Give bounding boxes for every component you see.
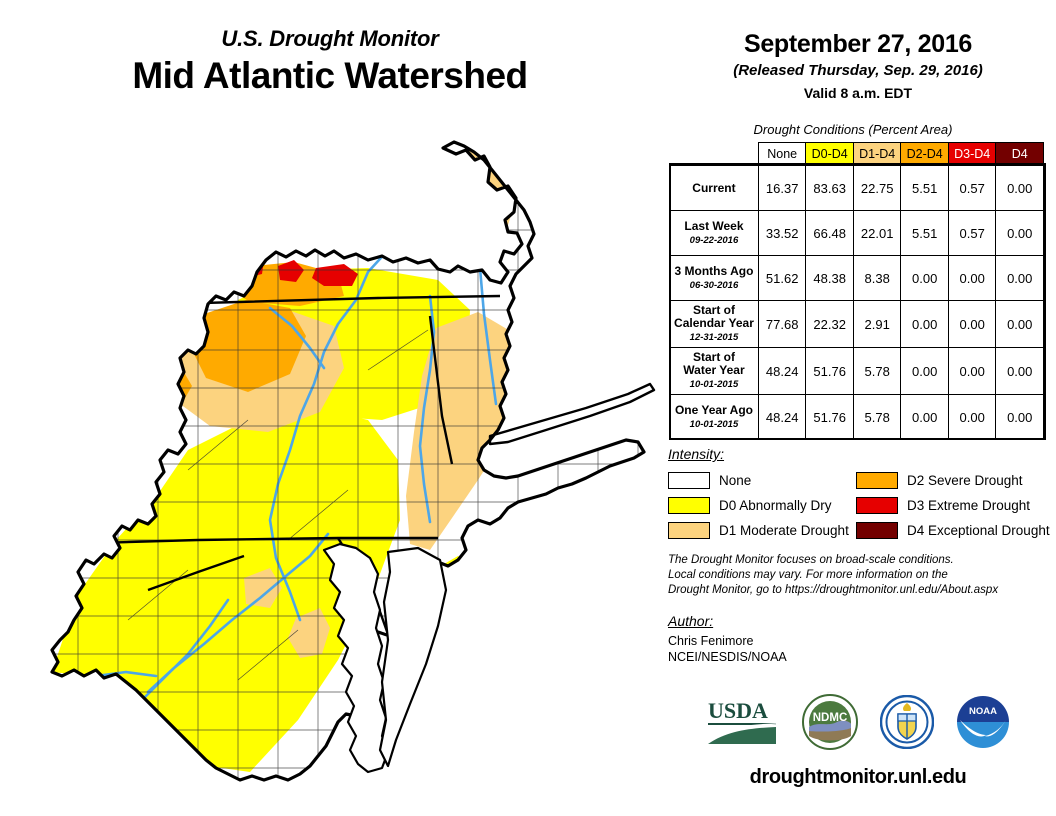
valid-time: Valid 8 a.m. EDT	[660, 84, 1056, 103]
row-label-0: Current	[670, 166, 759, 211]
cell-r0-c2: 22.75	[853, 166, 901, 211]
row-label-main: Current	[672, 182, 756, 195]
cell-r2-c2: 8.38	[853, 256, 901, 301]
cell-r5-c1: 51.76	[806, 395, 854, 440]
row-label-1: Last Week09-22-2016	[670, 211, 759, 256]
col-header-d2-d4: D2-D4	[901, 143, 949, 166]
page-title: Mid Atlantic Watershed	[0, 54, 660, 98]
table-header-row: None D0-D4 D1-D4 D2-D4 D3-D4 D4	[670, 143, 1044, 166]
cell-r1-c4: 0.57	[948, 211, 996, 256]
cell-r1-c5: 0.00	[996, 211, 1044, 256]
legend-swatch-d1	[668, 522, 710, 539]
legend-title: Intensity:	[668, 446, 1056, 462]
cell-r3-c3: 0.00	[901, 301, 949, 348]
intensity-legend: Intensity: NoneD2 Severe DroughtD0 Abnor…	[668, 446, 1056, 543]
long-island	[490, 384, 654, 444]
col-header-d3-d4: D3-D4	[948, 143, 996, 166]
cell-r5-c0: 48.24	[758, 395, 806, 440]
legend-item-d3[interactable]: D3 Extreme Drought	[856, 497, 1056, 514]
col-header-d0-d4: D0-D4	[806, 143, 854, 166]
table-row: Start ofCalendar Year12-31-201577.6822.3…	[670, 301, 1044, 348]
release-date: (Released Thursday, Sep. 29, 2016)	[660, 61, 1056, 81]
row-label-main: One Year Ago	[672, 404, 756, 417]
footer-url[interactable]: droughtmonitor.unl.edu	[660, 766, 1056, 789]
row-label-main: Start ofCalendar Year	[672, 304, 756, 330]
title-block: U.S. Drought Monitor Mid Atlantic Waters…	[0, 26, 660, 98]
svg-text:USDA: USDA	[708, 698, 768, 723]
cell-r0-c3: 5.51	[901, 166, 949, 211]
cell-r1-c3: 5.51	[901, 211, 949, 256]
svg-text:NOAA: NOAA	[969, 706, 997, 717]
map-panel: U.S. Drought Monitor Mid Atlantic Waters…	[0, 0, 660, 816]
cell-r0-c0: 16.37	[758, 166, 806, 211]
legend-swatch-d3	[856, 497, 898, 514]
legend-label-d1: D1 Moderate Drought	[719, 523, 849, 538]
row-label-date: 09-22-2016	[672, 234, 756, 247]
info-panel: September 27, 2016 (Released Thursday, S…	[660, 0, 1056, 816]
cell-r0-c4: 0.57	[948, 166, 996, 211]
cell-r1-c0: 33.52	[758, 211, 806, 256]
cell-r4-c4: 0.00	[948, 348, 996, 395]
cell-r4-c3: 0.00	[901, 348, 949, 395]
legend-swatch-d4	[856, 522, 898, 539]
table-row: Last Week09-22-201633.5266.4822.015.510.…	[670, 211, 1044, 256]
legend-item-d4[interactable]: D4 Exceptional Drought	[856, 522, 1056, 539]
disclaimer-line-2: Local conditions may vary. For more info…	[668, 568, 1054, 583]
cell-r5-c3: 0.00	[901, 395, 949, 440]
legend-item-d1[interactable]: D1 Moderate Drought	[668, 522, 856, 539]
row-label-2: 3 Months Ago06-30-2016	[670, 256, 759, 301]
cell-r3-c2: 2.91	[853, 301, 901, 348]
date-block: September 27, 2016 (Released Thursday, S…	[660, 30, 1056, 103]
legend-label-d2: D2 Severe Drought	[907, 473, 1023, 488]
drought-statistics-table[interactable]: None D0-D4 D1-D4 D2-D4 D3-D4 D4 Current1…	[669, 142, 1049, 440]
cell-r4-c0: 48.24	[758, 348, 806, 395]
row-label-main: Last Week	[672, 220, 756, 233]
drought-map[interactable]	[38, 120, 663, 815]
cell-r3-c0: 77.68	[758, 301, 806, 348]
legend-label-d3: D3 Extreme Drought	[907, 498, 1030, 513]
cell-r2-c1: 48.38	[806, 256, 854, 301]
table-row: Start ofWater Year10-01-201548.2451.765.…	[670, 348, 1044, 395]
cell-r5-c4: 0.00	[948, 395, 996, 440]
cell-r1-c1: 66.48	[806, 211, 854, 256]
row-label-5: One Year Ago10-01-2015	[670, 395, 759, 440]
cell-r2-c0: 51.62	[758, 256, 806, 301]
legend-grid: NoneD2 Severe DroughtD0 Abnormally DryD3…	[668, 468, 1056, 543]
table-row: 3 Months Ago06-30-201651.6248.388.380.00…	[670, 256, 1044, 301]
legend-swatch-none	[668, 472, 710, 489]
table-corner-cell	[670, 143, 759, 166]
ndmc-logo[interactable]: NDMC	[802, 694, 858, 755]
usdc-seal[interactable]	[880, 695, 934, 754]
row-label-3: Start ofCalendar Year12-31-2015	[670, 301, 759, 348]
col-header-d4: D4	[996, 143, 1044, 166]
cell-r4-c2: 5.78	[853, 348, 901, 395]
legend-item-d0[interactable]: D0 Abnormally Dry	[668, 497, 856, 514]
row-label-date: 10-01-2015	[672, 418, 756, 431]
author-affiliation: NCEI/NESDIS/NOAA	[668, 649, 1054, 665]
legend-item-none[interactable]: None	[668, 472, 856, 489]
row-label-main: Start ofWater Year	[672, 351, 756, 377]
cell-r5-c2: 5.78	[853, 395, 901, 440]
legend-swatch-d2	[856, 472, 898, 489]
cell-r5-c5: 0.00	[996, 395, 1044, 440]
cell-r0-c1: 83.63	[806, 166, 854, 211]
author-block: Author: Chris Fenimore NCEI/NESDIS/NOAA	[668, 613, 1054, 665]
disclaimer-line-3[interactable]: Drought Monitor, go to https://droughtmo…	[668, 583, 1054, 598]
cell-r0-c5: 0.00	[996, 166, 1044, 211]
cell-r1-c2: 22.01	[853, 211, 901, 256]
row-label-4: Start ofWater Year10-01-2015	[670, 348, 759, 395]
table-caption: Drought Conditions (Percent Area)	[660, 122, 1046, 137]
legend-label-d0: D0 Abnormally Dry	[719, 498, 832, 513]
usda-logo[interactable]: USDA	[706, 696, 780, 753]
cell-r3-c5: 0.00	[996, 301, 1044, 348]
cell-r3-c1: 22.32	[806, 301, 854, 348]
author-title: Author:	[668, 613, 1054, 629]
col-header-d1-d4: D1-D4	[853, 143, 901, 166]
logo-row: USDA NDMC	[660, 688, 1056, 760]
cell-r3-c4: 0.00	[948, 301, 996, 348]
legend-label-d4: D4 Exceptional Drought	[907, 523, 1050, 538]
legend-item-d2[interactable]: D2 Severe Drought	[856, 472, 1056, 489]
cell-r2-c4: 0.00	[948, 256, 996, 301]
page-supertitle: U.S. Drought Monitor	[0, 26, 660, 52]
cell-r4-c1: 51.76	[806, 348, 854, 395]
svg-text:NDMC: NDMC	[813, 712, 848, 724]
noaa-logo[interactable]: NOAA	[956, 695, 1010, 754]
disclaimer-line-1: The Drought Monitor focuses on broad-sca…	[668, 553, 1054, 568]
legend-label-none: None	[719, 473, 751, 488]
row-label-date: 12-31-2015	[672, 331, 756, 344]
legend-swatch-d0	[668, 497, 710, 514]
row-label-main: 3 Months Ago	[672, 265, 756, 278]
table-row: One Year Ago10-01-201548.2451.765.780.00…	[670, 395, 1044, 440]
row-label-date: 06-30-2016	[672, 279, 756, 292]
map-svg	[38, 120, 663, 815]
row-label-date: 10-01-2015	[672, 378, 756, 391]
table-row: Current16.3783.6322.755.510.570.00	[670, 166, 1044, 211]
col-header-none: None	[758, 143, 806, 166]
cell-r2-c3: 0.00	[901, 256, 949, 301]
table-body: Current16.3783.6322.755.510.570.00Last W…	[670, 166, 1044, 440]
cell-r4-c5: 0.00	[996, 348, 1044, 395]
report-date: September 27, 2016	[660, 30, 1056, 59]
cell-r2-c5: 0.00	[996, 256, 1044, 301]
author-name: Chris Fenimore	[668, 633, 1054, 649]
disclaimer-text: The Drought Monitor focuses on broad-sca…	[668, 553, 1054, 598]
